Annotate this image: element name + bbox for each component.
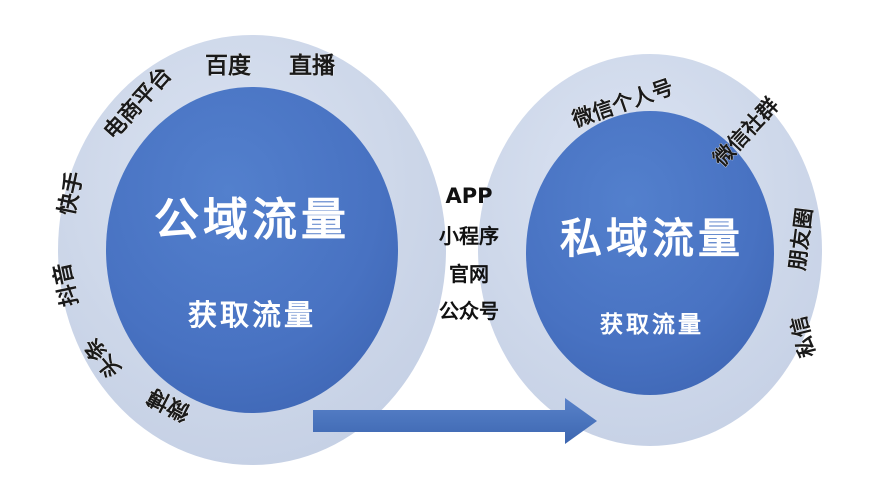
diagram-canvas: 公域流量 获取流量 私域流量 获取流量 百度 直播 电商平台 快手 抖音 头条 … <box>0 0 896 500</box>
left-core-subtitle: 获取流量 <box>188 298 316 332</box>
overlap-label-official-account: 公众号 <box>439 299 499 323</box>
left-core-title: 公域流量 <box>154 193 350 246</box>
left-inner-circle <box>106 87 398 413</box>
right-core-title: 私域流量 <box>560 214 744 263</box>
venn-diagram: 公域流量 获取流量 私域流量 获取流量 百度 直播 电商平台 快手 抖音 头条 … <box>0 0 896 500</box>
ring-label-live: 直播 <box>289 52 336 79</box>
overlap-label-official-website: 官网 <box>449 262 489 286</box>
overlap-label-app: APP <box>445 184 492 208</box>
overlap-label-miniprogram: 小程序 <box>439 224 499 248</box>
right-core-subtitle: 获取流量 <box>600 311 704 338</box>
ring-label-baidu: 百度 <box>205 52 252 79</box>
